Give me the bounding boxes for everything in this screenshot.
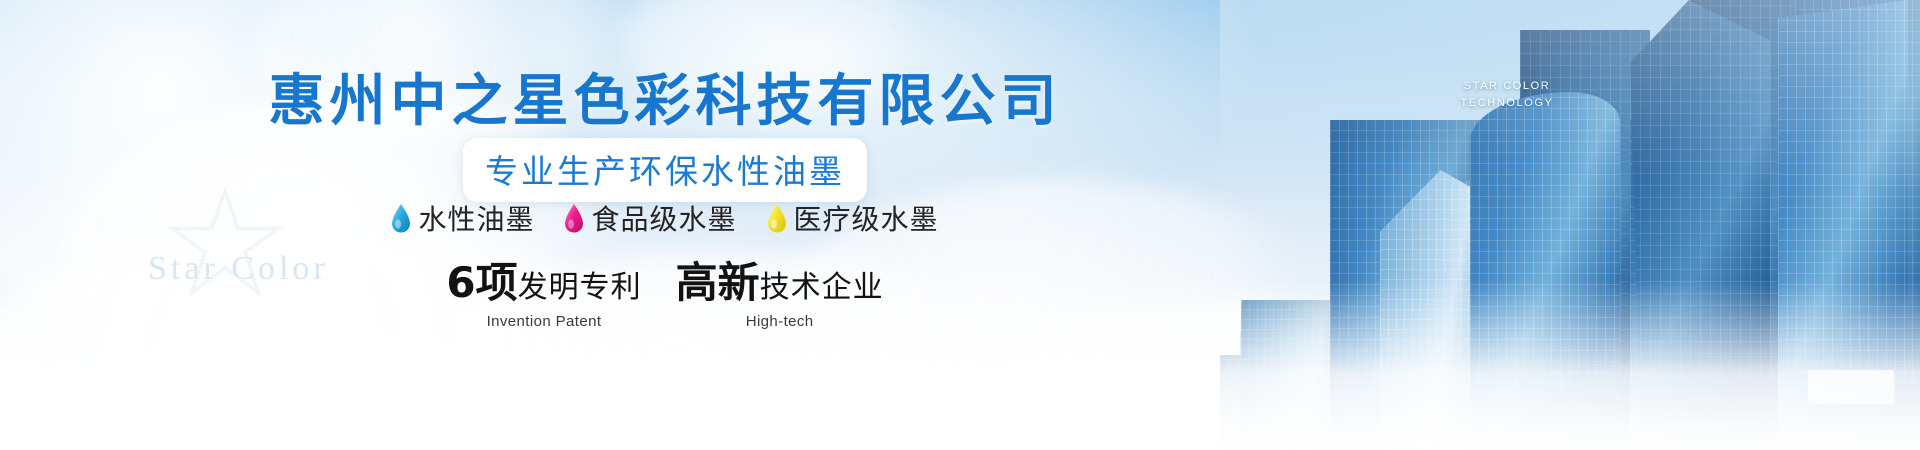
badge-chinese-line: 6项发明专利 bbox=[446, 262, 641, 304]
homepage-hero-banner: Star Color STAR COLOR TECHNOLOGY 惠州中之星色彩… bbox=[0, 0, 1920, 450]
star-color-line: STAR COLOR bbox=[1442, 78, 1572, 95]
credential-badges: 6项发明专利 Invention Patent 高新技术企业 High-tech bbox=[0, 262, 1330, 330]
banner-content: 惠州中之星色彩科技有限公司 专业生产环保水性油墨 bbox=[0, 0, 1330, 450]
feature-item: 水性油墨 bbox=[391, 198, 534, 238]
badge-chinese-line: 高新技术企业 bbox=[676, 262, 884, 304]
technology-line: TECHNOLOGY bbox=[1442, 95, 1572, 112]
badge-sub-text: 技术企业 bbox=[760, 270, 884, 305]
badge-high-tech: 高新技术企业 High-tech bbox=[676, 262, 884, 330]
water-drop-icon bbox=[767, 204, 787, 233]
feature-label: 食品级水墨 bbox=[591, 198, 736, 238]
badge-english-label: Invention Patent bbox=[446, 313, 641, 330]
subtitle-pill: 专业生产环保水性油墨 bbox=[463, 138, 867, 202]
badge-invention-patent: 6项发明专利 Invention Patent bbox=[446, 262, 641, 330]
subtitle-container: 专业生产环保水性油墨 bbox=[0, 138, 1330, 202]
badge-sub-text: 发明专利 bbox=[518, 270, 642, 305]
feature-item: 医疗级水墨 bbox=[767, 198, 939, 238]
badge-highlight-text: 6项 bbox=[446, 258, 517, 307]
water-drop-icon bbox=[391, 204, 411, 233]
feature-list: 水性油墨 bbox=[0, 198, 1330, 238]
badge-english-label: High-tech bbox=[676, 313, 884, 330]
star-color-technology-mark: STAR COLOR TECHNOLOGY bbox=[1442, 78, 1572, 112]
feature-label: 医疗级水墨 bbox=[794, 198, 939, 238]
feature-item: 食品级水墨 bbox=[564, 198, 736, 238]
water-drop-icon bbox=[564, 204, 584, 233]
badge-highlight-text: 高新 bbox=[676, 258, 760, 307]
company-title: 惠州中之星色彩科技有限公司 bbox=[0, 56, 1330, 137]
feature-label: 水性油墨 bbox=[418, 198, 534, 238]
